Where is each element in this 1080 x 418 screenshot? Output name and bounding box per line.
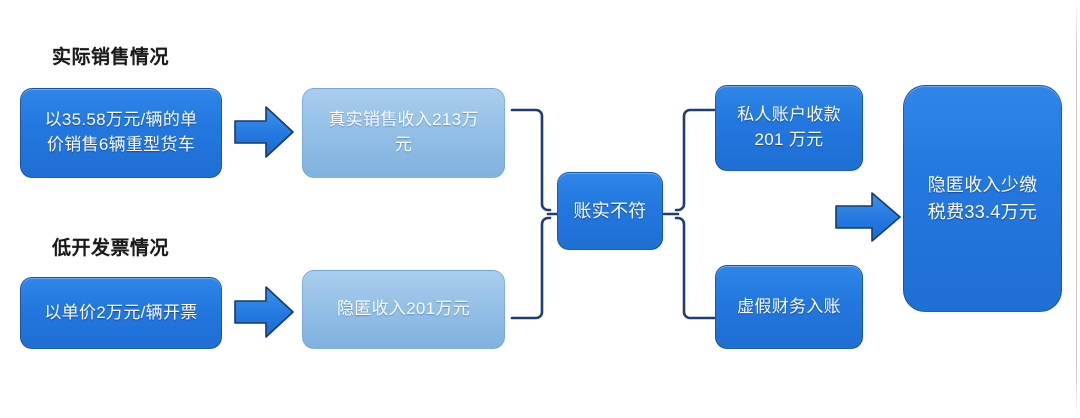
merge-bracket-icon [504, 106, 562, 322]
node-hidden-income-line1: 隐匿收入201万元 [337, 297, 470, 322]
node-actual-sale-line2: 价销售6辆重型货车 [45, 133, 198, 158]
node-tax-evasion-line2: 税费33.4万元 [928, 199, 1038, 225]
node-low-invoice-line1: 以单价2万元/辆开票 [44, 301, 197, 326]
node-private-account-line1: 私人账户收款 [737, 103, 841, 128]
right-block-arrow-icon [233, 103, 295, 161]
node-true-revenue-line1: 真实销售收入213万 [328, 108, 478, 133]
node-private-account[interactable]: 私人账户收款 201 万元 [715, 85, 863, 171]
node-tax-evasion-line1: 隐匿收入少缴 [928, 172, 1038, 198]
node-low-invoice[interactable]: 以单价2万元/辆开票 [20, 277, 222, 349]
page-edge-line [1076, 0, 1077, 418]
section-heading-low-invoice: 低开发票情况 [52, 233, 169, 260]
node-hidden-income[interactable]: 隐匿收入201万元 [302, 270, 505, 349]
node-private-account-line2: 201 万元 [737, 128, 841, 153]
flowchart-canvas: 实际销售情况 低开发票情况 以35.58万元/辆的单 价销售6辆重型货车 以单价… [0, 0, 1080, 418]
right-block-arrow-icon [834, 190, 902, 244]
node-false-books[interactable]: 虚假财务入账 [715, 265, 863, 349]
node-mismatch-line1: 账实不符 [573, 198, 646, 224]
split-bracket-icon [658, 106, 720, 322]
right-block-arrow-icon [233, 283, 295, 341]
node-true-revenue-line2: 元 [328, 133, 478, 158]
node-false-books-line1: 虚假财务入账 [737, 295, 841, 320]
node-tax-evasion[interactable]: 隐匿收入少缴 税费33.4万元 [903, 85, 1062, 312]
node-true-revenue[interactable]: 真实销售收入213万 元 [302, 88, 505, 178]
node-actual-sale-line1: 以35.58万元/辆的单 [45, 108, 198, 133]
node-mismatch[interactable]: 账实不符 [557, 172, 663, 250]
section-heading-actual-sale: 实际销售情况 [52, 42, 169, 69]
node-actual-sale[interactable]: 以35.58万元/辆的单 价销售6辆重型货车 [20, 88, 222, 178]
